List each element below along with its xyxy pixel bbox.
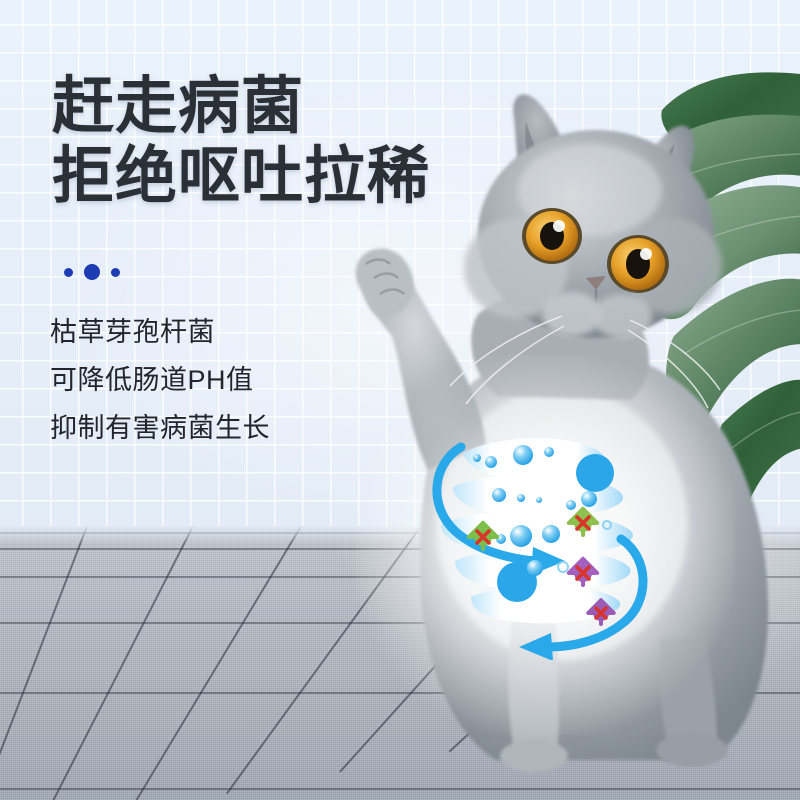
probiotic-spiral-graphic: [425, 425, 655, 660]
feature-item-3: 抑制有害病菌生长: [50, 404, 370, 452]
headline: 赶走病菌 拒绝呕吐拉稀: [52, 72, 522, 212]
feature-list: 枯草芽孢杆菌 可降低肠道PH值 抑制有害病菌生长: [50, 308, 370, 452]
solid-blue-circle: [576, 454, 614, 492]
feature-item-1: 枯草芽孢杆菌: [50, 308, 370, 356]
headline-line-1: 赶走病菌: [52, 72, 522, 142]
cat-front-paw-left: [500, 740, 568, 772]
small-dot-icon: [111, 268, 120, 277]
large-dot-icon: [84, 264, 100, 280]
feature-item-2: 可降低肠道PH值: [50, 356, 370, 404]
cat-eye-left: [522, 208, 582, 264]
arrow-head-bottom: [519, 633, 553, 660]
cat-front-paw-right: [656, 733, 728, 767]
cat-eye-right: [607, 235, 669, 293]
product-poster: 赶走病菌 拒绝呕吐拉稀 枯草芽孢杆菌 可降低肠道PH值 抑制有害病菌生长: [0, 0, 800, 800]
decor-dots: [64, 262, 120, 282]
headline-line-2: 拒绝呕吐拉稀: [52, 142, 522, 212]
cat-muzzle-right: [592, 294, 652, 338]
small-dot-icon: [64, 268, 73, 277]
